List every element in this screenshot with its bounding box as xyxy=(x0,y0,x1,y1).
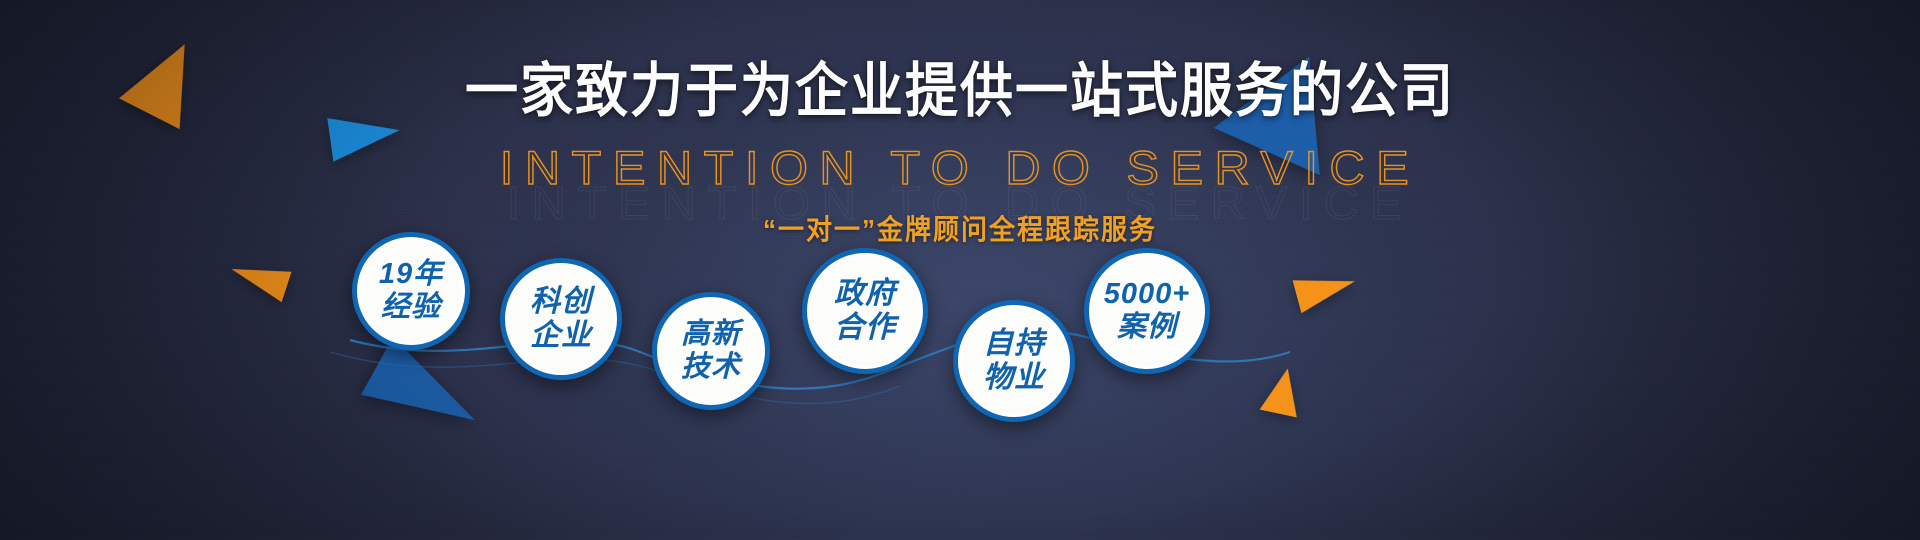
badge-line-1: 科创 xyxy=(530,287,592,317)
badge-group: 19年 经验 科创 企业 高新 技术 政府 合作 自持 物业 5000+ 案例 xyxy=(0,0,1920,540)
badge-government-cooperation[interactable]: 政府 合作 xyxy=(802,248,928,374)
badge-line-1: 政府 xyxy=(834,279,896,309)
badge-line-2: 合作 xyxy=(834,313,896,343)
badge-case-count[interactable]: 5000+ 案例 xyxy=(1084,248,1210,374)
badge-line-1: 自持 xyxy=(983,329,1045,359)
badge-experience[interactable]: 19年 经验 xyxy=(352,232,470,350)
badge-line-2: 案例 xyxy=(1117,313,1177,342)
hero-banner: INTENTION TO DO SERVICE 一家致力于为企业提供一站式服务的… xyxy=(0,0,1920,540)
badge-self-held-property[interactable]: 自持 物业 xyxy=(953,300,1075,422)
badge-line-1: 19年 xyxy=(379,260,443,289)
badge-tech-startup[interactable]: 科创 企业 xyxy=(500,258,622,380)
badge-line-2: 物业 xyxy=(983,363,1045,393)
badge-line-1: 高新 xyxy=(681,320,741,349)
badge-high-tech[interactable]: 高新 技术 xyxy=(652,292,770,410)
badge-line-2: 技术 xyxy=(681,353,741,382)
badge-line-2: 企业 xyxy=(530,321,592,351)
badge-line-1: 5000+ xyxy=(1104,280,1190,309)
badge-line-2: 经验 xyxy=(381,293,441,322)
